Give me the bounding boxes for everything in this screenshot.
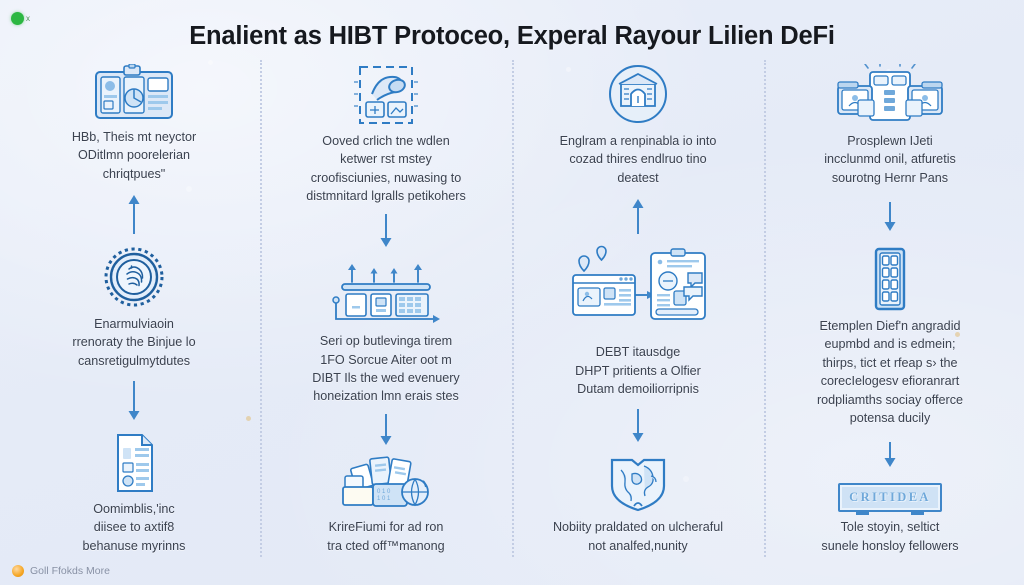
flow-connector-down-arrow (268, 206, 504, 257)
flow-connector-down-arrow (772, 427, 1008, 483)
shield-vault-circle-icon (603, 64, 673, 126)
document-report-icon (106, 432, 162, 494)
text-line: corecIelogesv efioranrart (817, 372, 963, 390)
flow-node-text: Oomimblis,'inc diisee to axtif8 behanuse… (83, 500, 186, 555)
page-title: Enalient as HIBT Protoceo, Experal Rayou… (0, 22, 1024, 51)
text-line: Nobiity praldated on ulcheraful (553, 518, 723, 536)
storefront-kiosk-icon (822, 64, 958, 126)
svg-text:0 1 0: 0 1 0 (377, 489, 391, 495)
flow-connector-down-arrow (16, 370, 252, 432)
text-line: 1FO Sorcue Aiter oot m (312, 351, 459, 369)
svg-text:1 0 1: 1 0 1 (377, 496, 391, 502)
text-line: behanuse myrinns (83, 537, 186, 555)
text-line: deatest (560, 169, 717, 187)
flow-node-text: Prosplewn IJeti incclunmd onil, atfureti… (824, 132, 956, 187)
text-line: croofisciunies, nuwasing to (306, 169, 466, 187)
text-line: diisee to axtif8 (83, 518, 186, 536)
text-line: thirps, tict et rfeap s› the (817, 354, 963, 372)
orange-circle-icon (12, 565, 24, 577)
flow-node: Oomimblis,'inc diisee to axtif8 behanuse… (16, 432, 252, 555)
text-line: KrireFiumi for ad ron (327, 518, 444, 536)
text-line: Tole stoyin, seltict (821, 518, 958, 536)
text-line: distmnitard lgralls petikohers (306, 187, 466, 205)
text-line: Englram a renpinabla io into (560, 132, 717, 150)
flow-node-text: HBb, Theis mt neyctor ODitlmn pooreleria… (72, 128, 196, 183)
diagram-column-4: Prosplewn IJeti incclunmd onil, atfureti… (764, 64, 1016, 555)
badge-frame: CRITIDEA (838, 483, 942, 512)
flow-node: HBb, Theis mt neyctor ODitlmn pooreleria… (16, 64, 252, 183)
text-line: potensa ducily (817, 409, 963, 427)
text-line: ketwer rst mstey (306, 150, 466, 168)
text-line: Seri op butlevinga tirem (312, 332, 459, 350)
flow-node-text: Seri op butlevinga tirem 1FO Sorcue Aite… (312, 332, 459, 406)
badge-label: CRITIDEA (849, 490, 931, 504)
recording-dot-icon (11, 12, 24, 25)
text-line: Ooved crlich tne wdlen (306, 132, 466, 150)
text-line: rrenoraty the Binjue lo (72, 333, 195, 351)
flow-node: 0 1 01 0 1 KrireFiumi for ad ron tra cte… (268, 454, 504, 555)
text-line: Etemplen Dief'n angradid (817, 317, 963, 335)
flow-node: Etemplen Dief'n angradid eupmbd and is e… (772, 247, 1008, 427)
text-line: tra cted off™manong (327, 537, 444, 555)
diagram-columns: HBb, Theis mt neyctor ODitlmn pooreleria… (8, 64, 1016, 555)
text-line: sunele honsloy fellowers (821, 537, 958, 555)
text-line: eupmbd and is edmein; (817, 335, 963, 353)
flow-node: Ooved crlich tne wdlen ketwer rst mstey … (268, 64, 504, 206)
flow-node: Enarmulviaoin rrenoraty the Binjue lo ca… (16, 245, 252, 370)
text-line: not analfed,nunity (553, 537, 723, 555)
status-indicator-label: x (26, 15, 30, 23)
flow-node-text: Etemplen Dief'n angradid eupmbd and is e… (817, 317, 963, 427)
flow-node-text: Englram a renpinabla io into cozad thire… (560, 132, 717, 187)
text-line: DHPT pritients a Olfier (575, 362, 701, 380)
text-line: DIBT Ils the wed evenuery (312, 369, 459, 387)
text-line: DEBT itausdge (575, 343, 701, 361)
flow-node: Nobiity praldated on ulcheraful not anal… (520, 454, 756, 555)
text-line: Oomimblis,'inc (83, 500, 186, 518)
server-rack-icon (865, 247, 915, 311)
diagram-column-3: Englram a renpinabla io into cozad thire… (512, 64, 764, 555)
flow-connector-up-arrow (16, 183, 252, 245)
flow-node: CRITIDEA Tole stoyin, seltict sunele hon… (772, 483, 1008, 555)
status-indicator: x (11, 12, 30, 25)
text-line: honeization lmn erais stes (312, 387, 459, 405)
clipboard-dashboard-icon (88, 64, 180, 122)
flow-node-text: Nobiity praldated on ulcheraful not anal… (553, 518, 723, 555)
footer-label[interactable]: Goll Ffokds More (30, 565, 110, 577)
flow-node: DEBT itausdge DHPT pritients a Olfier Du… (520, 245, 756, 398)
flow-node-text: DEBT itausdge DHPT pritients a Olfier Du… (575, 343, 701, 398)
text-line: cozad thires endlruo tino (560, 150, 717, 168)
diagram-column-2: Ooved crlich tne wdlen ketwer rst mstey … (260, 64, 512, 555)
flow-node: Prosplewn IJeti incclunmd onil, atfureti… (772, 64, 1008, 187)
page-root: x Enalient as HIBT Protoceo, Experal Ray… (0, 0, 1024, 585)
footer[interactable]: Goll Ffokds More (12, 565, 110, 577)
flow-node: Englram a renpinabla io into cozad thire… (520, 64, 756, 187)
flow-connector-down-arrow (268, 406, 504, 455)
text-line: HBb, Theis mt neyctor (72, 128, 196, 146)
text-line: incclunmd onil, atfuretis (824, 150, 956, 168)
flow-connector-down-arrow (520, 398, 756, 454)
bank-counter-icon (326, 256, 446, 326)
flow-connector-down-arrow (772, 187, 1008, 247)
text-line: chriqtpues" (72, 165, 196, 183)
text-line: rodpliamths sociay offerce (817, 391, 963, 409)
text-line: Enarmulviaoin (72, 315, 195, 333)
flow-connector-up-arrow (520, 187, 756, 245)
crop-frame-image-icon (342, 64, 430, 126)
flow-node: Seri op butlevinga tirem 1FO Sorcue Aite… (268, 256, 504, 406)
flow-node-text: Tole stoyin, seltict sunele honsloy fell… (821, 518, 958, 555)
dual-screen-report-icon (563, 245, 713, 337)
gear-fingerprint-icon (100, 245, 168, 309)
text-line: sourotng Hernr Pans (824, 169, 956, 187)
text-line: Prosplewn IJeti (824, 132, 956, 150)
documents-stack-globe-icon: 0 1 01 0 1 (331, 454, 441, 512)
text-line: Dutam demoiliorripnis (575, 380, 701, 398)
flow-node-text: Enarmulviaoin rrenoraty the Binjue lo ca… (72, 315, 195, 370)
diagram-column-1: HBb, Theis mt neyctor ODitlmn pooreleria… (8, 64, 260, 555)
text-line: cansretigulmytdutes (72, 352, 195, 370)
critidea-badge-icon: CRITIDEA (838, 483, 942, 512)
flow-node-text: Ooved crlich tne wdlen ketwer rst mstey … (306, 132, 466, 206)
flow-node-text: KrireFiumi for ad ron tra cted off™manon… (327, 518, 444, 555)
text-line: ODitlmn poorelerian (72, 146, 196, 164)
globe-shield-icon (604, 454, 672, 512)
